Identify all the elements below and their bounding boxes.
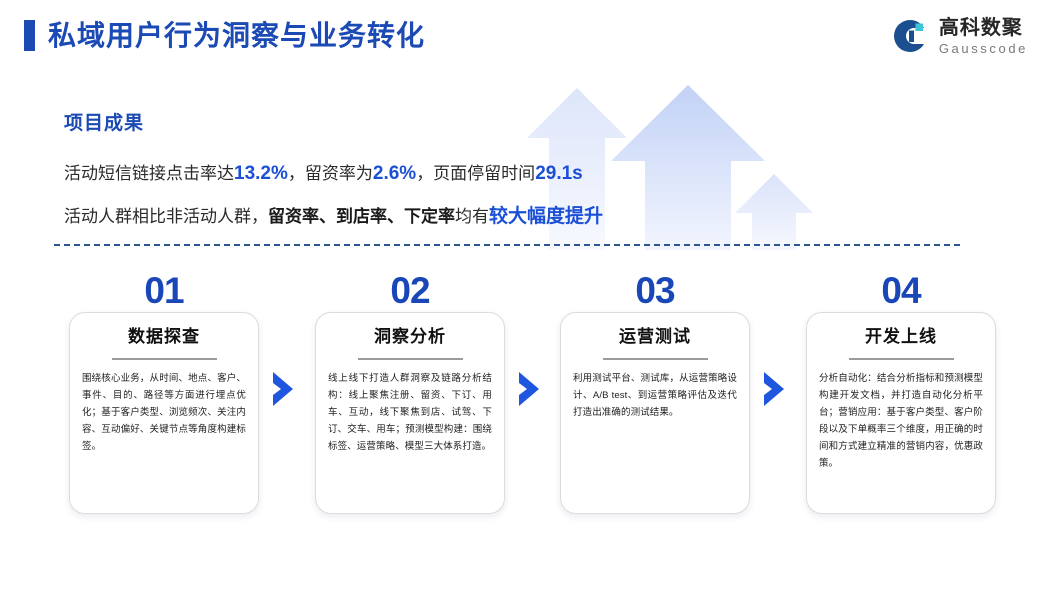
step-rule-1 [112,358,217,360]
step-title-2: 洞察分析 [328,327,492,347]
project-results-block: 项目成果 活动短信链接点击率达13.2%，留资率为2.6%，页面停留时间29.1… [64,108,603,246]
step-number-1: 01 [69,272,259,309]
results-line2-metrics: 留资率、到店率、下定率 [268,207,455,226]
gausscode-logo-mark-icon [890,16,930,56]
step-card-2[interactable]: 洞察分析 线上线下打造人群洞察及链路分析结构：线上聚焦注册、留资、下订、用车、互… [315,312,505,514]
step-description-3: 利用测试平台、测试库，从运营策略设计、A/B test、到运营策略评估及迭代打造… [573,371,737,422]
up-arrow-decoration-right [735,174,813,250]
results-heading: 项目成果 [64,108,603,135]
step-description-4: 分析自动化：结合分析指标和预测模型构建开发文档，并打造自动化分析平台；营销应用：… [819,371,983,472]
page-title: 私域用户行为洞察与业务转化 [48,22,425,50]
step-item-3[interactable]: 03 运营测试 利用测试平台、测试库，从运营策略设计、A/B test、到运营策… [560,272,750,517]
step-card-1[interactable]: 数据探查 围绕核心业务，从时间、地点、客户、事件、目的、路径等方面进行埋点优化；… [69,312,259,514]
metric-dwell-time: 29.1s [535,163,583,184]
results-line2-highlight: 较大幅度提升 [489,206,603,227]
step-item-2[interactable]: 02 洞察分析 线上线下打造人群洞察及链路分析结构：线上聚焦注册、留资、下订、用… [315,272,505,517]
results-line2-text1: 活动人群相比非活动人群， [64,207,268,226]
results-line2-text2: 均有 [455,207,489,226]
step-card-3[interactable]: 运营测试 利用测试平台、测试库，从运营策略设计、A/B test、到运营策略评估… [560,312,750,514]
step-description-1: 围绕核心业务，从时间、地点、客户、事件、目的、路径等方面进行埋点优化；基于客户类… [82,371,246,456]
step-rule-3 [603,358,708,360]
page-header: 私域用户行为洞察与业务转化 高科数聚 Gausscode [0,0,1048,78]
brand-name-cn: 高科数聚 [939,18,1028,38]
chevron-right-icon-2 [516,369,542,409]
process-steps: 01 数据探查 围绕核心业务，从时间、地点、客户、事件、目的、路径等方面进行埋点… [0,272,1048,532]
step-number-2: 02 [315,272,505,309]
results-line1-text3: ，页面停留时间 [416,164,535,183]
step-rule-2 [358,358,463,360]
step-item-1[interactable]: 01 数据探查 围绕核心业务，从时间、地点、客户、事件、目的、路径等方面进行埋点… [69,272,259,517]
results-line1-text1: 活动短信链接点击率达 [64,164,234,183]
metric-lead-rate: 2.6% [373,163,416,184]
step-title-4: 开发上线 [819,327,983,347]
step-card-4[interactable]: 开发上线 分析自动化：结合分析指标和预测模型构建开发文档，并打造自动化分析平台；… [806,312,996,514]
step-rule-4 [849,358,954,360]
results-line-2: 活动人群相比非活动人群，留资率、到店率、下定率均有较大幅度提升 [64,202,603,231]
step-number-3: 03 [560,272,750,309]
brand-logo: 高科数聚 Gausscode [890,16,1028,56]
results-line-1: 活动短信链接点击率达13.2%，留资率为2.6%，页面停留时间29.1s [64,159,603,188]
results-line1-text2: ，留资率为 [288,164,373,183]
chevron-right-icon-1 [270,369,296,409]
title-accent-bar-icon [24,20,35,51]
step-title-3: 运营测试 [573,327,737,347]
brand-logo-text: 高科数聚 Gausscode [939,18,1028,55]
brand-name-en: Gausscode [939,42,1028,55]
metric-click-rate: 13.2% [234,163,288,184]
step-title-1: 数据探查 [82,327,246,347]
page-title-wrapper: 私域用户行为洞察与业务转化 [24,20,425,51]
step-description-2: 线上线下打造人群洞察及链路分析结构：线上聚焦注册、留资、下订、用车、互动，线下聚… [328,371,492,456]
up-arrow-decoration-center [611,85,765,250]
chevron-right-icon-3 [761,369,787,409]
step-item-4[interactable]: 04 开发上线 分析自动化：结合分析指标和预测模型构建开发文档，并打造自动化分析… [806,272,996,517]
step-number-4: 04 [806,272,996,309]
